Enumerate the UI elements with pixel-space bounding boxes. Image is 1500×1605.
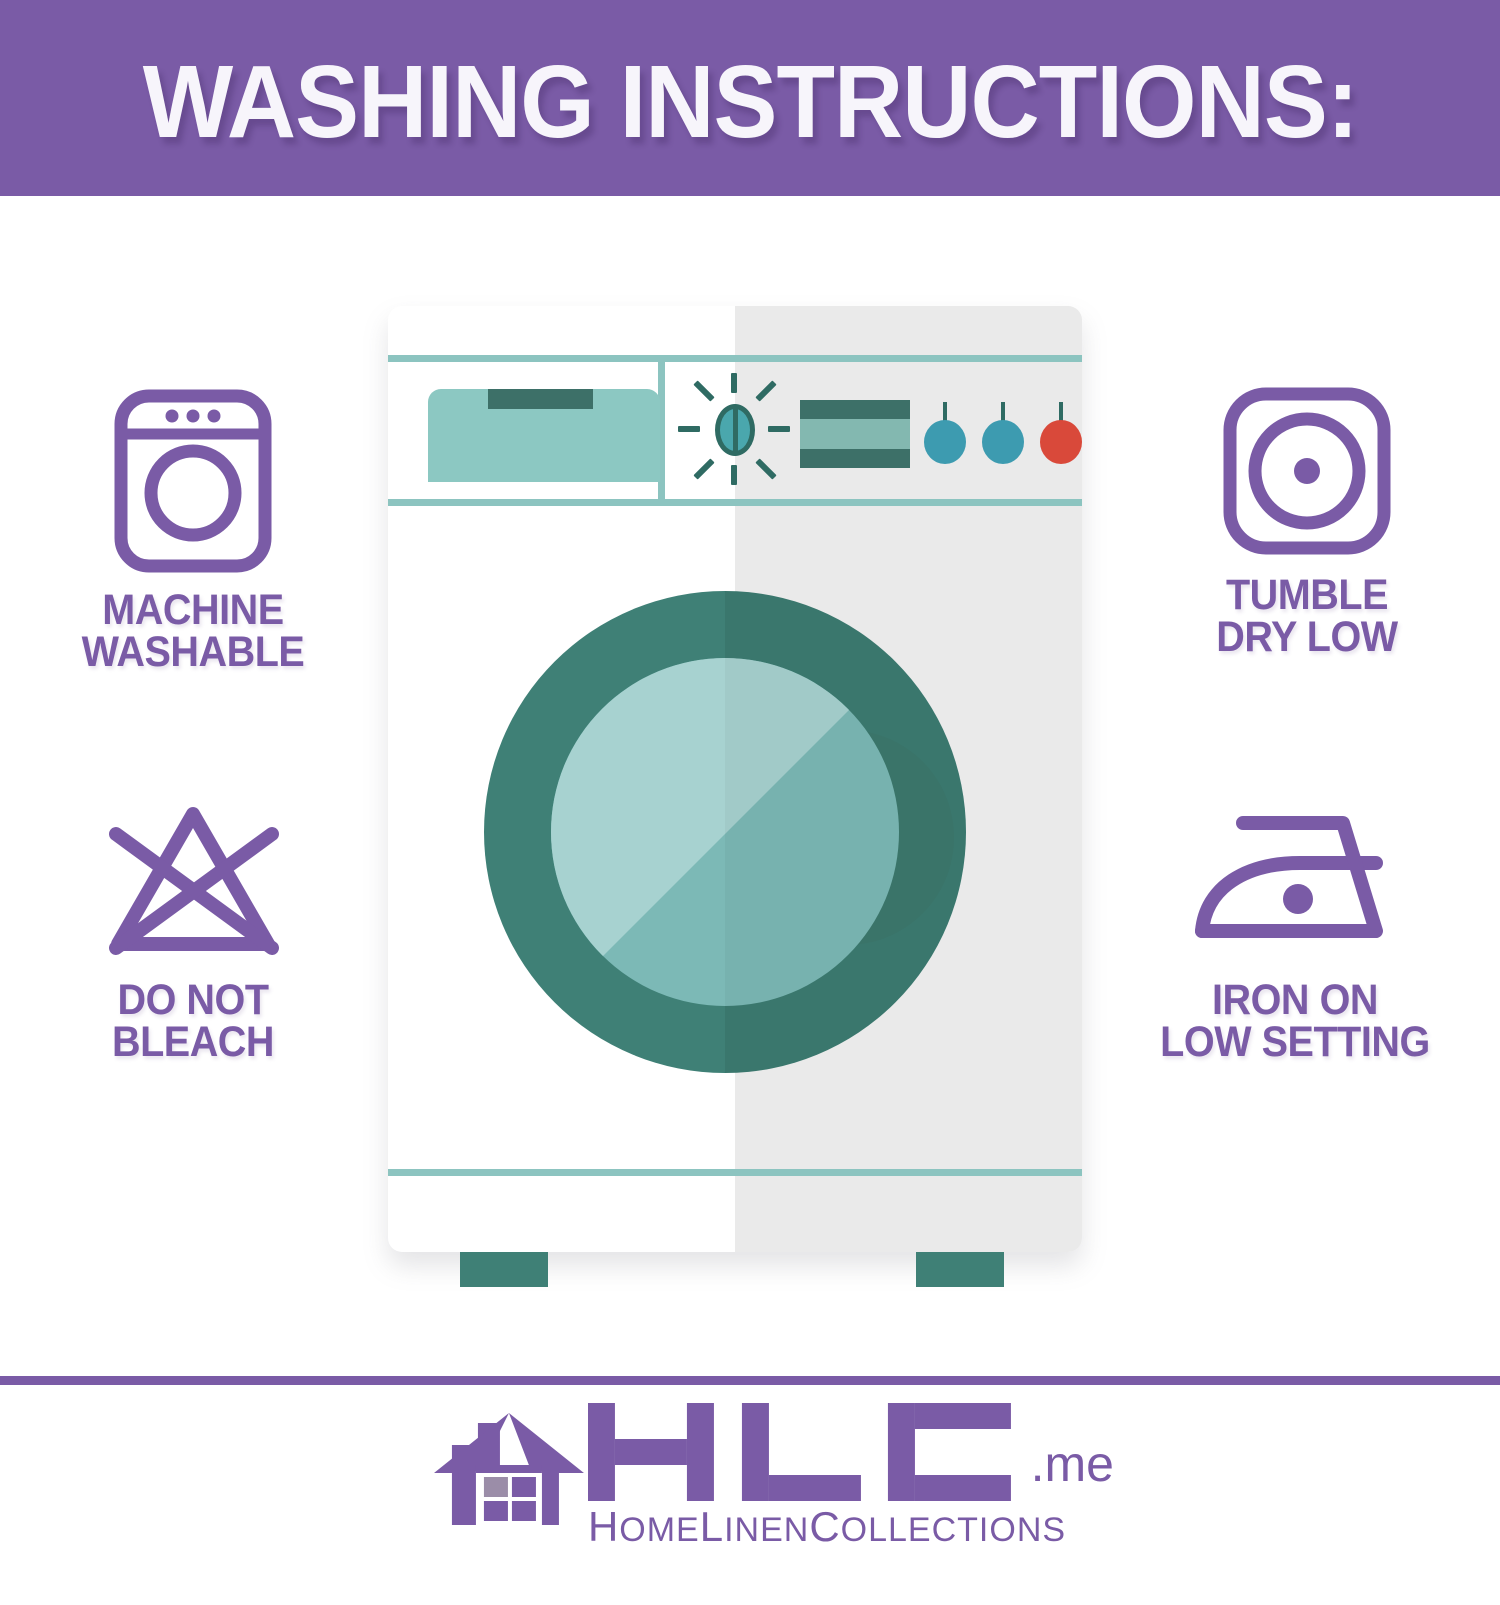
tumble-dryer-one-dot-icon — [1217, 381, 1397, 561]
logo-wordmark-group: .me HOMELINENCOLLECTIONS — [588, 1403, 1066, 1551]
machine-foot-left — [460, 1252, 548, 1287]
triangle-crossed-out-icon — [96, 796, 291, 966]
illustration-canvas: MACHINE WASHABLE DO NOT BLEACH TUMBLE DR… — [0, 196, 1500, 1374]
dial-ray — [731, 465, 737, 485]
detergent-drawer-compartment — [388, 362, 665, 499]
dial-ray — [693, 458, 714, 479]
machine-foot-right — [916, 1252, 1004, 1287]
control-knob-3[interactable] — [1040, 402, 1082, 464]
control-knob-2[interactable] — [982, 402, 1024, 464]
care-symbol-label: MACHINE WASHABLE — [41, 590, 345, 673]
tagline-part: L — [700, 1503, 724, 1550]
drawer-handle — [488, 389, 593, 409]
detergent-drawer[interactable] — [428, 389, 660, 482]
display-band-bottom — [800, 449, 910, 468]
footer-divider — [0, 1376, 1500, 1385]
hlc-letters-icon — [588, 1403, 1018, 1501]
door-glass-shade — [725, 658, 899, 1006]
tagline-part: OME — [619, 1511, 699, 1549]
knob-cap — [924, 420, 966, 464]
machine-trim-panel-bottom — [388, 499, 1082, 506]
machine-trim-top — [388, 355, 1082, 362]
hlc-logo[interactable]: .me HOMELINENCOLLECTIONS — [434, 1403, 1066, 1551]
care-symbol-tumble-dry-low[interactable]: TUMBLE DRY LOW — [1142, 381, 1472, 658]
care-symbol-do-not-bleach[interactable]: DO NOT BLEACH — [28, 796, 358, 1063]
house-icon — [434, 1403, 584, 1538]
brand-wordmark: .me — [588, 1403, 1018, 1501]
care-symbol-iron-low[interactable]: IRON ON LOW SETTING — [1130, 801, 1460, 1063]
logo-tld: .me — [1031, 1435, 1114, 1493]
washing-machine-icon — [108, 386, 278, 576]
dial-ray — [768, 426, 790, 432]
page-title: WASHING INSTRUCTIONS: — [142, 44, 1357, 153]
knob-cap — [982, 420, 1024, 464]
machine-body — [388, 306, 1082, 1252]
dial-ray — [693, 380, 714, 401]
logo-tagline: HOMELINENCOLLECTIONS — [588, 1503, 1066, 1551]
tagline-part: C — [809, 1503, 840, 1550]
care-symbol-label: DO NOT BLEACH — [41, 980, 345, 1063]
tagline-part: H — [588, 1503, 619, 1550]
washing-machine-illustration — [388, 306, 1082, 1252]
page-header: WASHING INSTRUCTIONS: — [0, 0, 1500, 196]
display-screen — [800, 400, 910, 468]
dial-ray — [731, 373, 737, 393]
page-footer: .me HOMELINENCOLLECTIONS — [0, 1385, 1500, 1605]
knob-cap — [1040, 420, 1082, 464]
tagline-part: OLLECTIONS — [841, 1511, 1066, 1549]
iron-one-dot-icon — [1180, 801, 1410, 966]
tagline-part: INEN — [724, 1511, 809, 1549]
display-band-top — [800, 400, 910, 419]
care-symbol-label: TUMBLE DRY LOW — [1155, 575, 1459, 658]
dial-needle — [733, 407, 738, 453]
machine-trim-bottom — [388, 1169, 1082, 1176]
door-glass — [551, 658, 899, 1006]
dial-ray — [678, 426, 700, 432]
care-symbol-machine-washable[interactable]: MACHINE WASHABLE — [28, 386, 358, 673]
control-knob-1[interactable] — [924, 402, 966, 464]
care-symbol-label: IRON ON LOW SETTING — [1143, 980, 1447, 1063]
program-selector-dial[interactable] — [706, 401, 764, 459]
machine-door[interactable] — [484, 591, 966, 1073]
